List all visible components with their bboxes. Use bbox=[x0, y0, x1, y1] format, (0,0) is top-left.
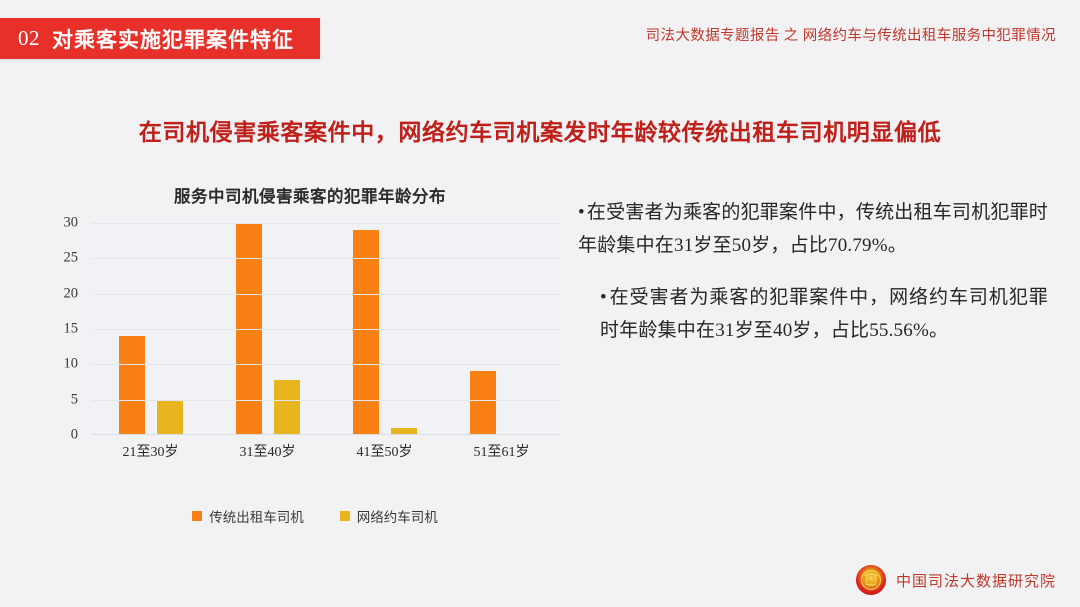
y-axis-tick-label: 15 bbox=[64, 321, 79, 338]
y-axis-tick-label: 5 bbox=[71, 391, 78, 408]
x-axis-tick-label: 51至61岁 bbox=[443, 441, 560, 461]
bar[interactable] bbox=[119, 336, 145, 435]
section-banner: 02 对乘客实施犯罪案件特征 bbox=[0, 18, 320, 59]
legend-label: 传统出租车司机 bbox=[209, 506, 304, 526]
chart-container: 服务中司机侵害乘客的犯罪年龄分布 051015202530 21至30岁31至4… bbox=[40, 183, 560, 538]
footer-branding: 中国司法大数据研究院 bbox=[856, 565, 1056, 595]
y-axis-tick-label: 30 bbox=[64, 215, 79, 232]
legend-item[interactable]: 网络约车司机 bbox=[340, 506, 438, 526]
section-number: 02 bbox=[18, 26, 40, 51]
report-subtitle: 司法大数据专题报告 之 网络约车与传统出租车服务中犯罪情况 bbox=[646, 24, 1056, 45]
gridline bbox=[92, 223, 560, 224]
slide-root: 02 对乘客实施犯罪案件特征 司法大数据专题报告 之 网络约车与传统出租车服务中… bbox=[0, 0, 1080, 607]
chart-title: 服务中司机侵害乘客的犯罪年龄分布 bbox=[60, 183, 560, 207]
organization-name: 中国司法大数据研究院 bbox=[896, 570, 1056, 591]
x-axis-labels: 21至30岁31至40岁41至50岁51至61岁 bbox=[92, 441, 560, 461]
section-title: 对乘客实施犯罪案件特征 bbox=[52, 24, 294, 54]
chart-plot-wrapper: 051015202530 21至30岁31至40岁41至50岁51至61岁 bbox=[40, 223, 560, 458]
china-judicial-bigdata-emblem-icon bbox=[856, 565, 886, 595]
bullet-text: 在受害者为乘客的犯罪案件中，传统出租车司机犯罪时年龄集中在31岁至50岁，占比7… bbox=[578, 202, 1048, 256]
legend-swatch-icon bbox=[340, 511, 350, 521]
bullet-list: •在受害者为乘客的犯罪案件中，传统出租车司机犯罪时年龄集中在31岁至50岁，占比… bbox=[578, 197, 1048, 348]
bullet-marker: • bbox=[600, 287, 607, 308]
x-axis-tick-label: 21至30岁 bbox=[92, 441, 209, 461]
bar[interactable] bbox=[353, 230, 379, 435]
legend-item[interactable]: 传统出租车司机 bbox=[192, 506, 304, 526]
bar[interactable] bbox=[274, 380, 300, 435]
list-item: •在受害者为乘客的犯罪案件中，网络约车司机犯罪时年龄集中在31岁至40岁，占比5… bbox=[578, 282, 1048, 347]
gridline bbox=[92, 294, 560, 295]
bullet-marker: • bbox=[578, 202, 585, 223]
bullet-text: 在受害者为乘客的犯罪案件中，网络约车司机犯罪时年龄集中在31岁至40岁，占比55… bbox=[600, 287, 1048, 341]
plot-area bbox=[92, 223, 560, 435]
legend-label: 网络约车司机 bbox=[357, 506, 438, 526]
list-item: •在受害者为乘客的犯罪案件中，传统出租车司机犯罪时年龄集中在31岁至50岁，占比… bbox=[578, 197, 1048, 262]
legend-swatch-icon bbox=[192, 511, 202, 521]
gridline bbox=[92, 329, 560, 330]
x-axis-tick-label: 41至50岁 bbox=[326, 441, 443, 461]
x-axis-tick-label: 31至40岁 bbox=[209, 441, 326, 461]
page-title: 在司机侵害乘客案件中，网络约车司机案发时年龄较传统出租车司机明显偏低 bbox=[0, 113, 1080, 147]
y-axis-tick-label: 20 bbox=[64, 285, 79, 302]
bar[interactable] bbox=[470, 371, 496, 435]
y-axis-tick-label: 25 bbox=[64, 250, 79, 267]
y-axis-tick-label: 10 bbox=[64, 356, 79, 373]
y-axis-tick-label: 0 bbox=[71, 427, 78, 444]
y-axis: 051015202530 bbox=[40, 223, 86, 435]
gridline bbox=[92, 364, 560, 365]
gridline bbox=[92, 434, 560, 435]
chart-legend: 传统出租车司机网络约车司机 bbox=[40, 506, 560, 526]
bar[interactable] bbox=[157, 400, 183, 435]
gridline bbox=[92, 400, 560, 401]
gridline bbox=[92, 258, 560, 259]
